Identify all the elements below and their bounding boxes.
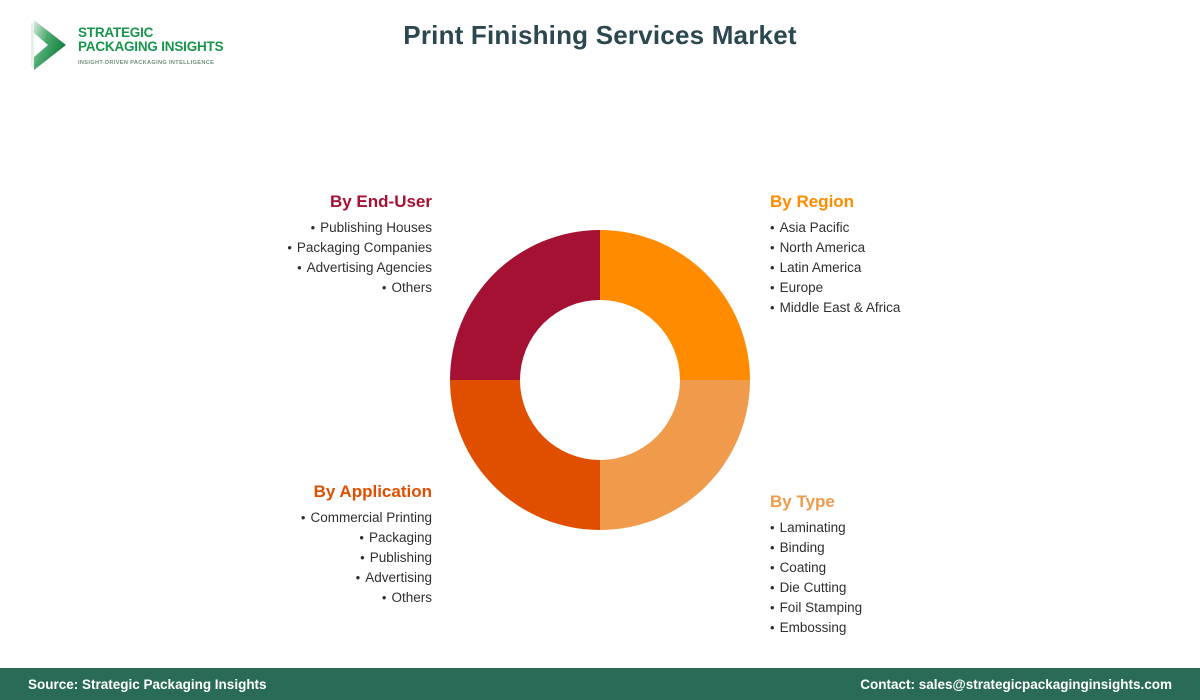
list-item: •Advertising [160,568,432,588]
segment-end-user-list: •Publishing Houses •Packaging Companies … [180,218,432,298]
bullet-icon: • [770,520,775,535]
donut-slice-region[interactable] [600,230,750,380]
bullet-icon: • [360,550,365,565]
page-title: Print Finishing Services Market [0,20,1200,51]
list-item-label: Binding [780,540,825,555]
logo-tagline: INSIGHT-DRIVEN PACKAGING INTELLIGENCE [78,60,223,66]
footer-source: Source: Strategic Packaging Insights [28,677,267,692]
list-item-label: Embossing [780,620,847,635]
list-item-label: Die Cutting [780,580,847,595]
list-item: •Commercial Printing [160,508,432,528]
list-item-label: Others [391,590,432,605]
list-item-label: Commercial Printing [310,510,432,525]
list-item: •North America [770,238,1070,258]
list-item-label: Middle East & Africa [780,300,901,315]
list-item-label: Coating [780,560,827,575]
segment-type-heading: By Type [770,492,1070,512]
list-item-label: Advertising [365,570,432,585]
list-item: •Binding [770,538,1070,558]
segment-region: By Region •Asia Pacific •North America •… [770,192,1070,318]
list-item-label: Publishing [370,550,432,565]
bullet-icon: • [770,600,775,615]
list-item-label: Latin America [780,260,862,275]
list-item-label: Others [391,280,432,295]
list-item: •Advertising Agencies [180,258,432,278]
segment-type: By Type •Laminating •Binding •Coating •D… [770,492,1070,638]
bullet-icon: • [287,240,292,255]
footer-contact[interactable]: Contact: sales@strategicpackaginginsight… [860,677,1172,692]
bullet-icon: • [770,620,775,635]
list-item-label: Publishing Houses [320,220,432,235]
list-item: •Laminating [770,518,1070,538]
segment-application: By Application •Commercial Printing •Pac… [160,482,432,608]
segment-application-list: •Commercial Printing •Packaging •Publish… [160,508,432,608]
list-item-label: Foil Stamping [780,600,863,615]
bullet-icon: • [770,280,775,295]
list-item: •Packaging [160,528,432,548]
segment-type-list: •Laminating •Binding •Coating •Die Cutti… [770,518,1070,638]
list-item: •Foil Stamping [770,598,1070,618]
list-item: •Publishing [160,548,432,568]
list-item: •Others [160,588,432,608]
bullet-icon: • [770,220,775,235]
bullet-icon: • [770,260,775,275]
donut-slice-end-user[interactable] [450,230,600,380]
list-item: •Embossing [770,618,1070,638]
list-item-label: Advertising Agencies [307,260,432,275]
footer-bar: Source: Strategic Packaging Insights Con… [0,668,1200,700]
bullet-icon: • [311,220,316,235]
list-item-label: Packaging Companies [297,240,432,255]
list-item-label: Laminating [780,520,846,535]
list-item: •Packaging Companies [180,238,432,258]
bullet-icon: • [770,300,775,315]
list-item-label: Packaging [369,530,432,545]
bullet-icon: • [770,540,775,555]
bullet-icon: • [770,580,775,595]
list-item: •Publishing Houses [180,218,432,238]
bullet-icon: • [382,590,387,605]
list-item: •Asia Pacific [770,218,1070,238]
infographic-canvas: STRATEGIC PACKAGING INSIGHTS INSIGHT-DRI… [0,0,1200,700]
segment-end-user: By End-User •Publishing Houses •Packagin… [180,192,432,298]
segment-application-heading: By Application [160,482,432,502]
segment-region-list: •Asia Pacific •North America •Latin Amer… [770,218,1070,318]
bullet-icon: • [297,260,302,275]
bullet-icon: • [770,560,775,575]
list-item-label: Europe [780,280,824,295]
donut-slice-application[interactable] [450,380,600,530]
list-item: •Latin America [770,258,1070,278]
bullet-icon: • [359,530,364,545]
segment-region-heading: By Region [770,192,1070,212]
list-item: •Coating [770,558,1070,578]
donut-chart [450,230,750,530]
list-item-label: Asia Pacific [780,220,850,235]
list-item: •Die Cutting [770,578,1070,598]
list-item: •Europe [770,278,1070,298]
bullet-icon: • [770,240,775,255]
list-item-label: North America [780,240,866,255]
donut-slice-type[interactable] [600,380,750,530]
segment-end-user-heading: By End-User [180,192,432,212]
bullet-icon: • [301,510,306,525]
donut-chart-svg [450,230,750,530]
list-item: •Middle East & Africa [770,298,1070,318]
bullet-icon: • [382,280,387,295]
list-item: •Others [180,278,432,298]
bullet-icon: • [356,570,361,585]
